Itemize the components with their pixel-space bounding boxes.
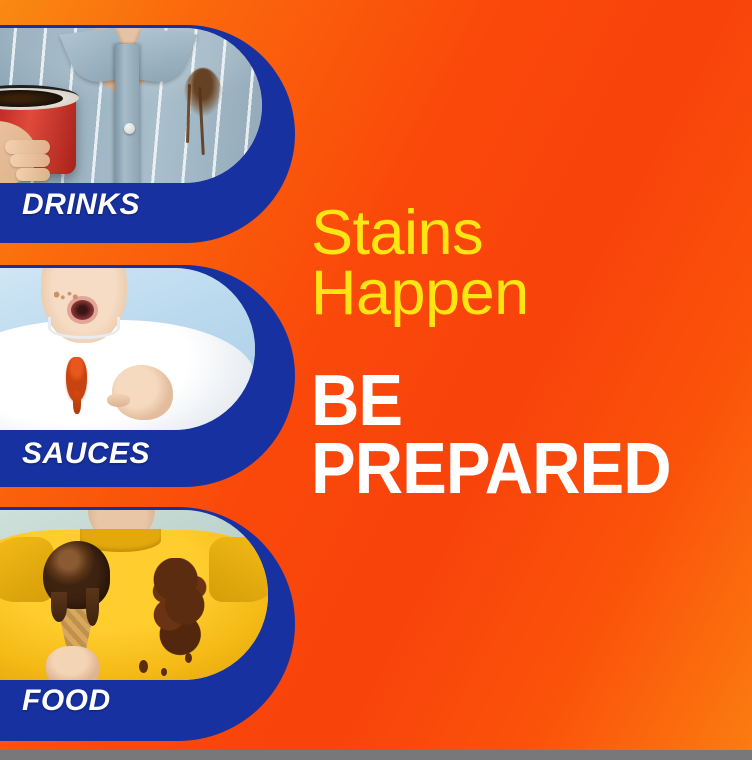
sauce-drip [73, 391, 82, 414]
subhead-be-prepared: BE PREPARED [311, 368, 713, 503]
category-label-food: FOOD [22, 684, 111, 718]
child-hand-holding-cone [46, 646, 100, 680]
sauces-photo-artwork [0, 268, 255, 430]
chocolate-stain [145, 558, 209, 657]
drinks-photo [0, 28, 262, 183]
melt-drip-2 [86, 588, 99, 625]
bottom-device-bar [0, 750, 752, 760]
finger-1 [5, 140, 50, 154]
food-photo-artwork [0, 510, 268, 680]
sauces-photo [0, 268, 255, 430]
child-hand [112, 365, 173, 420]
poster-canvas: DRINKS SAUCES [0, 0, 752, 760]
food-photo [0, 510, 268, 680]
drinks-photo-artwork [0, 28, 262, 183]
melt-drip-1 [51, 592, 67, 623]
finger-2 [10, 154, 49, 168]
shirt-button [124, 123, 135, 134]
freckles [54, 291, 80, 301]
category-label-sauces: SAUCES [22, 437, 150, 471]
chocolate-drop-2 [185, 653, 192, 663]
chocolate-drop-3 [161, 668, 167, 676]
category-label-drinks: DRINKS [22, 188, 140, 222]
copy-block: Stains Happen BE PREPARED [311, 203, 743, 503]
headline-stains-happen: Stains Happen [311, 203, 743, 324]
shirt-placket [115, 44, 139, 184]
finger-3 [16, 168, 50, 182]
shoulder-right [209, 537, 268, 602]
